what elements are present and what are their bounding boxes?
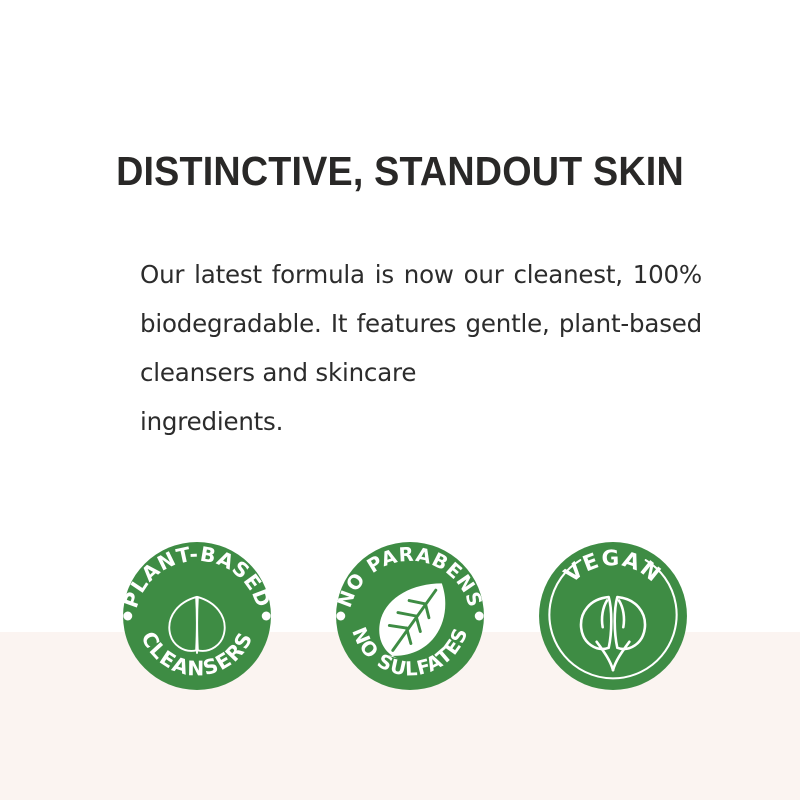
dot-left-icon: [336, 612, 345, 621]
body-line-4: ingredients.: [140, 397, 702, 446]
body-line-1: Our latest formula is now our cleanest,: [140, 260, 623, 289]
badge-row: PLANT-BASED CLEANSERS: [0, 530, 800, 705]
badge-plant-based-cleansers: PLANT-BASED CLEANSERS: [111, 530, 283, 702]
dot-right-icon: [475, 612, 484, 621]
page-title: DISTINCTIVE, STANDOUT SKIN: [32, 148, 768, 195]
dot-left-icon: [123, 612, 132, 621]
badge-vegan: VEGAN: [527, 530, 699, 702]
page-root: DISTINCTIVE, STANDOUT SKIN Our latest fo…: [0, 0, 800, 800]
body-paragraph: Our latest formula is now our cleanest, …: [140, 250, 702, 446]
dot-right-icon: [262, 612, 271, 621]
badge-no-parabens-no-sulfates: NO PARABENS NO SULFATES: [324, 530, 496, 702]
